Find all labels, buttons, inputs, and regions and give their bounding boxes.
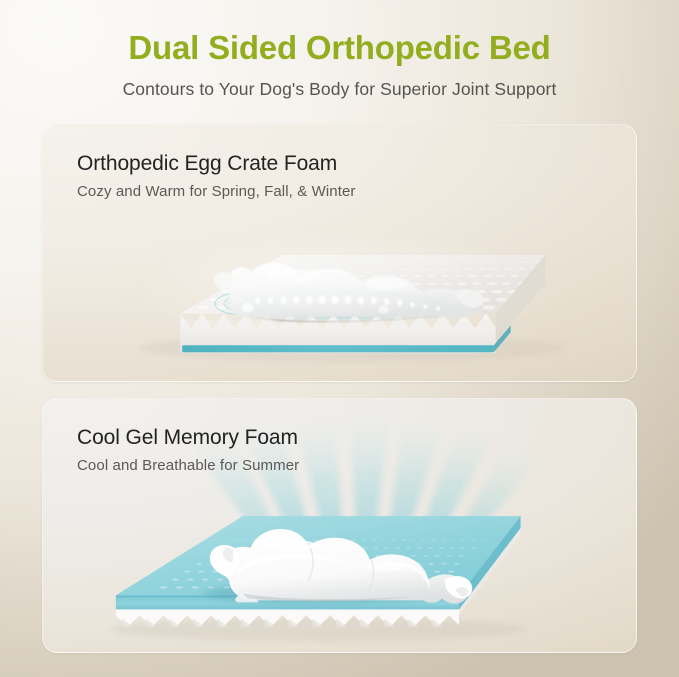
- page-title: Dual Sided Orthopedic Bed: [0, 28, 679, 68]
- card-1-title: Orthopedic Egg Crate Foam: [77, 151, 356, 177]
- infographic-page: Dual Sided Orthopedic Bed Contours to Yo…: [0, 0, 679, 677]
- page-subtitle: Contours to Your Dog's Body for Superior…: [0, 78, 679, 100]
- card-2-text-block: Cool Gel Memory Foam Cool and Breathable…: [77, 425, 299, 475]
- card-2-subtitle: Cool and Breathable for Summer: [77, 456, 299, 475]
- card-2-title: Cool Gel Memory Foam: [77, 425, 299, 451]
- teal-accent-strip: [182, 345, 494, 352]
- feature-card-orthopedic-egg-crate-foam[interactable]: Orthopedic Egg Crate Foam Cozy and Warm …: [42, 124, 637, 382]
- card-1-subtitle: Cozy and Warm for Spring, Fall, & Winter: [77, 182, 356, 201]
- feature-card-cool-gel-memory-foam[interactable]: Cool Gel Memory Foam Cool and Breathable…: [42, 398, 637, 653]
- card-1-text-block: Orthopedic Egg Crate Foam Cozy and Warm …: [77, 151, 356, 201]
- header: Dual Sided Orthopedic Bed Contours to Yo…: [0, 0, 679, 100]
